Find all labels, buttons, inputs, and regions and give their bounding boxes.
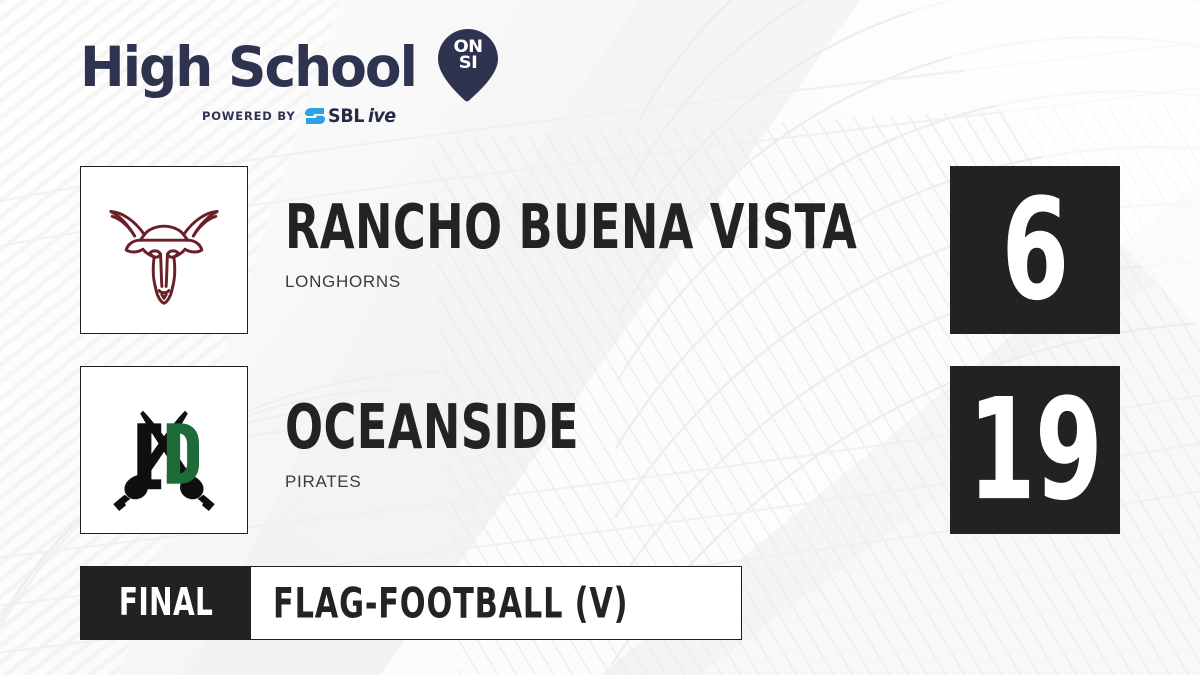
pin-line-si: SI <box>436 55 501 71</box>
game-state-badge: FINAL <box>81 567 251 639</box>
sblive-logo: SBL ive <box>304 105 397 127</box>
on-si-pin-icon: ON SI <box>437 28 499 102</box>
team-score: 6 <box>1001 180 1068 320</box>
team-logo-box <box>80 366 248 534</box>
team-row: RANCHO BUENA VISTA LONGHORNS 6 <box>80 166 1120 334</box>
team-score-box: 6 <box>950 166 1120 334</box>
game-state-label: FINAL <box>119 584 214 623</box>
powered-by-label: POWERED BY <box>202 109 295 123</box>
brand-wordmark: High School <box>80 39 416 95</box>
team-mascot: LONGHORNS <box>285 272 925 292</box>
game-status-bar: FINAL FLAG-FOOTBALL (V) <box>80 566 742 640</box>
crossed-cutlasses-od-logo-icon <box>94 380 234 520</box>
team-logo-box <box>80 166 248 334</box>
brand-lockup: High School ON SI POWERED BY SBL ive <box>80 36 510 134</box>
team-score: 19 <box>968 380 1102 520</box>
sblive-secondary-text: ive <box>368 105 396 127</box>
on-si-pin-text: ON SI <box>437 39 499 71</box>
team-name: OCEANSIDE <box>285 397 797 459</box>
powered-by-row: POWERED BY SBL ive <box>80 105 510 127</box>
team-info: RANCHO BUENA VISTA LONGHORNS <box>285 200 925 292</box>
sblive-bolt-icon <box>304 106 326 126</box>
team-name: RANCHO BUENA VISTA <box>285 197 797 259</box>
team-info: OCEANSIDE PIRATES <box>285 400 925 492</box>
longhorn-steer-logo-icon <box>94 180 234 320</box>
team-score-box: 19 <box>950 366 1120 534</box>
team-row: OCEANSIDE PIRATES 19 <box>80 366 1120 534</box>
sblive-primary-text: SBL <box>328 105 364 127</box>
team-mascot: PIRATES <box>285 472 925 492</box>
sport-panel: FLAG-FOOTBALL (V) <box>251 567 741 639</box>
brand-wordmark-row: High School ON SI <box>80 36 510 98</box>
sport-label: FLAG-FOOTBALL (V) <box>273 582 628 624</box>
